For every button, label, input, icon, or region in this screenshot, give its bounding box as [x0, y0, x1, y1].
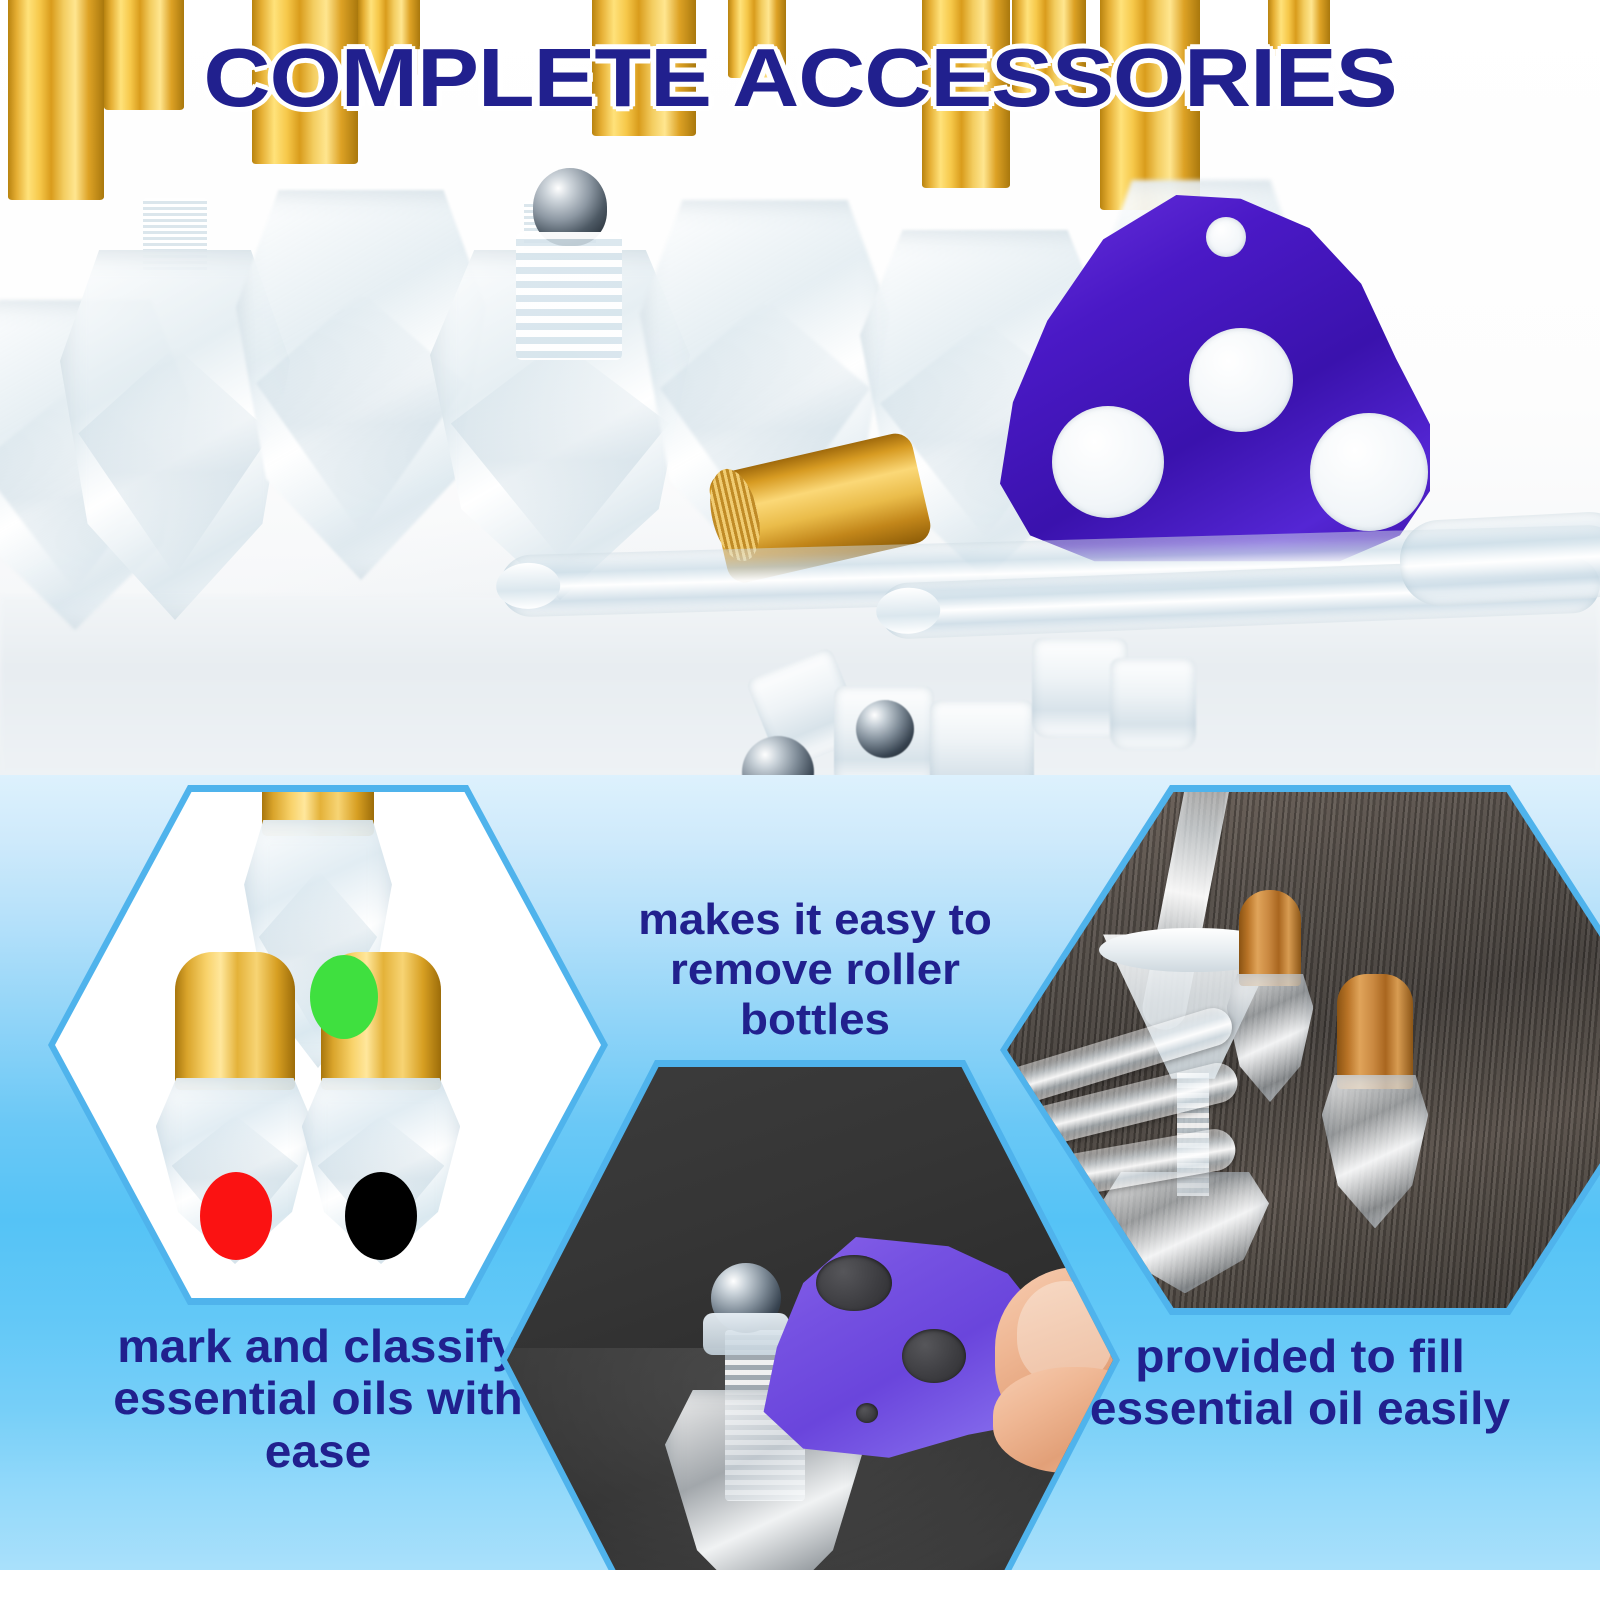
pipette	[1398, 510, 1600, 608]
black-dot	[345, 1172, 417, 1260]
roller-opener-tool	[1000, 195, 1430, 565]
roller-insert	[930, 700, 1034, 775]
page-title: COMPLETE ACCESSORIES	[0, 36, 1600, 119]
capped-bottle	[1239, 890, 1301, 1090]
green-dot	[310, 955, 378, 1039]
features-panel: mark and classify essential oils with ea…	[0, 775, 1600, 1570]
feature-caption-remove-roller-bottles: makes it easy to remove roller bottles	[591, 895, 1038, 1045]
red-dot	[200, 1172, 272, 1260]
bottom-white-strip	[0, 1570, 1600, 1600]
capped-bottle	[1337, 974, 1413, 1214]
bottle-neck-threads	[516, 232, 622, 360]
tool-hole	[1189, 328, 1293, 432]
tool-hole	[1052, 406, 1164, 518]
tool-hole	[902, 1329, 966, 1383]
roller-insert	[1110, 658, 1196, 750]
tool-hole	[1310, 413, 1428, 531]
feature-caption-fill-essential-oil: provided to fill essential oil easily	[1030, 1330, 1571, 1435]
roller-ball-icon	[856, 700, 914, 758]
feature-hexagon-fill-essential-oil	[1000, 785, 1600, 1315]
infographic-root: COMPLETE ACCESSORIES	[0, 0, 1600, 1600]
tool-hang-hole	[856, 1403, 878, 1423]
